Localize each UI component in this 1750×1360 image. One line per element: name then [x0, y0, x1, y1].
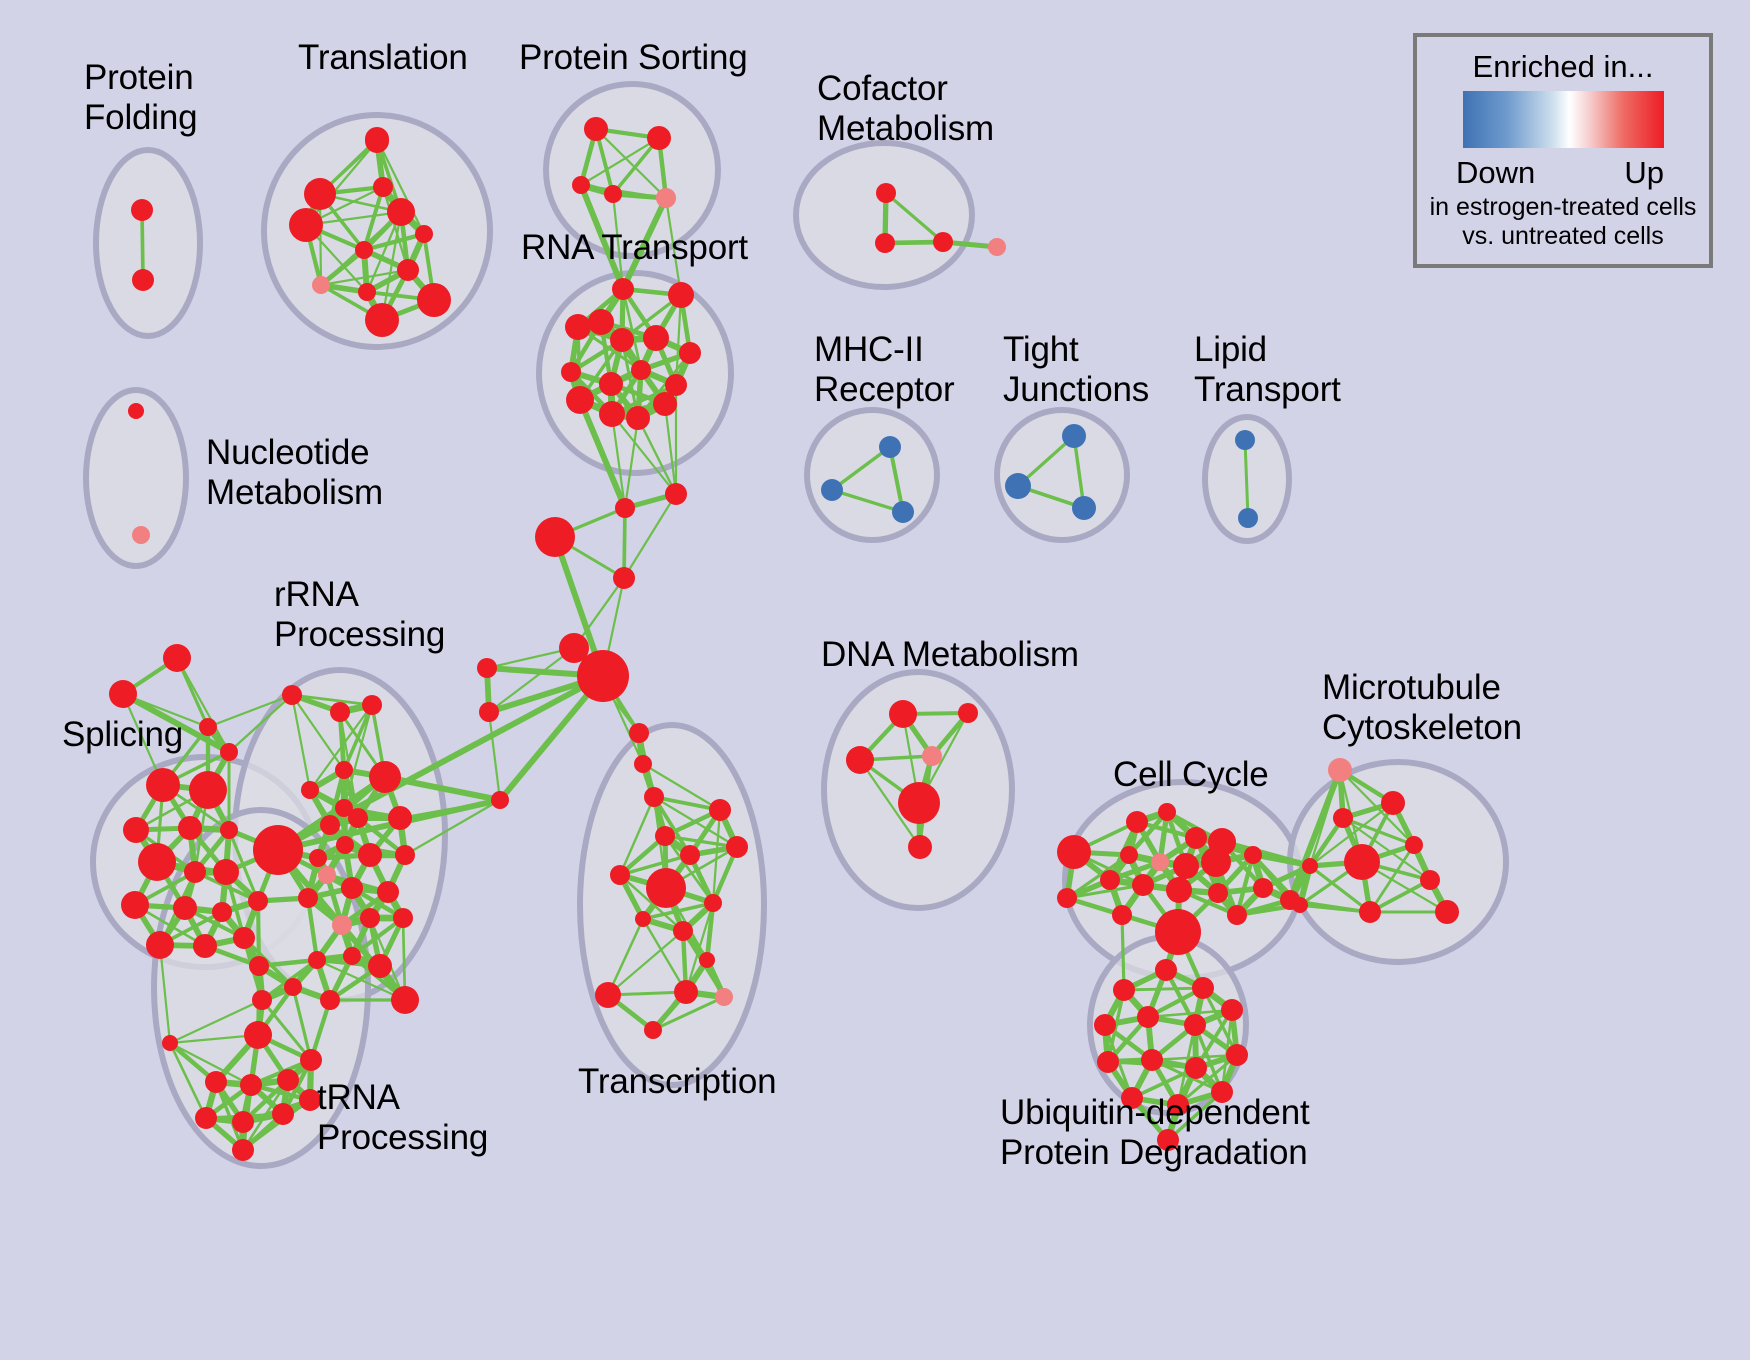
legend-endpoint-labels: Down Up [1456, 155, 1670, 193]
network-node[interactable] [679, 342, 701, 364]
network-node[interactable] [535, 517, 575, 557]
network-node[interactable] [249, 956, 269, 976]
network-node[interactable] [1137, 1006, 1159, 1028]
legend-panel: Enriched in... Down Up in estrogen-treat… [1413, 33, 1713, 268]
network-node[interactable] [368, 954, 392, 978]
network-node[interactable] [244, 1021, 272, 1049]
network-node[interactable] [647, 126, 671, 150]
network-node[interactable] [1302, 858, 1318, 874]
cluster-label-line: Nucleotide [206, 433, 383, 473]
network-node[interactable] [1173, 853, 1199, 879]
network-node[interactable] [479, 702, 499, 722]
network-node[interactable] [846, 746, 874, 774]
cluster-label-cell-cycle: Cell Cycle [1113, 755, 1269, 795]
network-node[interactable] [613, 567, 635, 589]
network-node[interactable] [876, 183, 896, 203]
network-node[interactable] [248, 891, 268, 911]
network-node[interactable] [397, 259, 419, 281]
network-node[interactable] [933, 232, 953, 252]
network-node[interactable] [1253, 878, 1273, 898]
network-node[interactable] [646, 868, 686, 908]
network-node[interactable] [821, 479, 843, 501]
network-node[interactable] [284, 978, 302, 996]
network-node[interactable] [653, 392, 677, 416]
network-node[interactable] [343, 947, 361, 965]
network-node[interactable] [163, 644, 191, 672]
cluster-ellipse-microtubule-cytoskeleton [1290, 762, 1506, 962]
network-node[interactable] [1221, 999, 1243, 1021]
network-node[interactable] [572, 176, 590, 194]
network-node[interactable] [875, 233, 895, 253]
network-node[interactable] [320, 990, 340, 1010]
network-node[interactable] [365, 129, 389, 153]
network-node[interactable] [318, 866, 336, 884]
network-node[interactable] [193, 934, 217, 958]
cluster-label-line: Translation [298, 38, 468, 78]
network-node[interactable] [335, 761, 353, 779]
network-node[interactable] [355, 241, 373, 259]
network-node[interactable] [491, 791, 509, 809]
network-node[interactable] [298, 888, 318, 908]
network-edge [1124, 988, 1203, 990]
network-node[interactable] [1292, 897, 1308, 913]
network-node[interactable] [1100, 870, 1120, 890]
network-node[interactable] [109, 680, 137, 708]
network-node[interactable] [1155, 959, 1177, 981]
network-node[interactable] [253, 825, 303, 875]
network-node[interactable] [1113, 979, 1135, 1001]
network-node[interactable] [922, 746, 942, 766]
cluster-label-trna-processing: tRNAProcessing [317, 1078, 488, 1158]
network-node[interactable] [1057, 888, 1077, 908]
network-node[interactable] [604, 185, 622, 203]
network-node[interactable] [1057, 835, 1091, 869]
network-node[interactable] [309, 849, 327, 867]
legend-title: Enriched in... [1417, 49, 1709, 85]
network-node[interactable] [195, 1107, 217, 1129]
cluster-label-line: Cell Cycle [1113, 755, 1269, 795]
network-node[interactable] [388, 806, 412, 830]
legend-down-label: Down [1456, 155, 1535, 191]
cluster-label-line: Protein [84, 58, 197, 98]
network-node[interactable] [395, 845, 415, 865]
legend-subtitle-line-1: in estrogen-treated cells [1417, 193, 1709, 222]
cluster-label-cofactor-metabolism: CofactorMetabolism [817, 69, 994, 149]
network-node[interactable] [1333, 808, 1353, 828]
network-node[interactable] [336, 836, 354, 854]
network-node[interactable] [128, 403, 144, 419]
network-node[interactable] [565, 314, 591, 340]
cluster-label-line: Protein Degradation [1000, 1133, 1310, 1173]
network-node[interactable] [1097, 1051, 1119, 1073]
network-node[interactable] [1112, 905, 1132, 925]
network-node[interactable] [644, 1021, 662, 1039]
network-node[interactable] [673, 921, 693, 941]
network-node[interactable] [373, 177, 393, 197]
network-node[interactable] [1344, 844, 1380, 880]
network-node[interactable] [1166, 877, 1192, 903]
network-node[interactable] [301, 781, 319, 799]
network-node[interactable] [300, 1049, 322, 1071]
cluster-label-line: Receptor [814, 370, 954, 410]
network-node[interactable] [220, 743, 238, 761]
network-node[interactable] [958, 703, 978, 723]
network-node[interactable] [898, 782, 940, 824]
network-node[interactable] [1208, 883, 1228, 903]
network-node[interactable] [656, 188, 676, 208]
cluster-label-line: Processing [317, 1118, 488, 1158]
network-node[interactable] [332, 915, 352, 935]
network-node[interactable] [1126, 811, 1148, 833]
network-node[interactable] [205, 1071, 227, 1093]
network-node[interactable] [320, 815, 340, 835]
network-node[interactable] [391, 986, 419, 1014]
network-node[interactable] [715, 988, 733, 1006]
cluster-label-line: Lipid [1194, 330, 1341, 370]
cluster-label-line: tRNA [317, 1078, 488, 1118]
network-node[interactable] [417, 283, 451, 317]
network-node[interactable] [146, 768, 180, 802]
cluster-label-microtubule-cytoskeleton: MicrotubuleCytoskeleton [1322, 668, 1522, 748]
legend-up-label: Up [1624, 155, 1664, 191]
cluster-ellipse-protein-folding [96, 150, 200, 336]
network-node[interactable] [699, 952, 715, 968]
cluster-label-line: Processing [274, 615, 445, 655]
network-node[interactable] [584, 117, 608, 141]
legend-colorbar [1463, 91, 1664, 148]
network-node[interactable] [1244, 846, 1262, 864]
network-node[interactable] [566, 386, 594, 414]
network-node[interactable] [889, 700, 917, 728]
network-node[interactable] [1072, 496, 1096, 520]
cluster-label-line: Cofactor [817, 69, 994, 109]
network-node[interactable] [1238, 508, 1258, 528]
cluster-label-line: Transport [1194, 370, 1341, 410]
network-node[interactable] [1227, 905, 1247, 925]
network-node[interactable] [162, 1035, 178, 1051]
network-node[interactable] [330, 702, 350, 722]
cluster-label-line: Microtubule [1322, 668, 1522, 708]
network-node[interactable] [610, 328, 634, 352]
cluster-label-line: Tight [1003, 330, 1149, 370]
network-node[interactable] [629, 723, 649, 743]
enrichment-network-figure: ProteinFoldingTranslationProtein Sorting… [0, 0, 1750, 1360]
network-node[interactable] [1381, 791, 1405, 815]
cluster-label-nucleotide-metabolism: NucleotideMetabolism [206, 433, 383, 513]
network-node[interactable] [612, 278, 634, 300]
network-node[interactable] [674, 980, 698, 1004]
network-edge [489, 712, 500, 800]
cluster-label-mhc-ii-receptor: MHC-IIReceptor [814, 330, 954, 410]
network-edge [1122, 915, 1124, 990]
network-node[interactable] [1151, 853, 1169, 871]
network-node[interactable] [599, 372, 623, 396]
network-node[interactable] [1185, 827, 1207, 849]
network-node[interactable] [704, 894, 722, 912]
network-node[interactable] [726, 836, 748, 858]
network-node[interactable] [199, 718, 217, 736]
cluster-label-splicing: Splicing [62, 715, 183, 755]
network-node[interactable] [668, 282, 694, 308]
network-node[interactable] [362, 695, 382, 715]
network-node[interactable] [377, 881, 399, 903]
network-node[interactable] [184, 861, 206, 883]
network-node[interactable] [131, 199, 153, 221]
network-node[interactable] [1184, 1014, 1206, 1036]
network-node[interactable] [1062, 424, 1086, 448]
cluster-label-lipid-transport: LipidTransport [1194, 330, 1341, 410]
network-node[interactable] [1132, 874, 1154, 896]
network-node[interactable] [252, 990, 272, 1010]
cluster-label-line: Cytoskeleton [1322, 708, 1522, 748]
network-node[interactable] [132, 269, 154, 291]
network-node[interactable] [644, 787, 664, 807]
network-node[interactable] [1158, 803, 1176, 821]
cluster-label-rrna-processing: rRNAProcessing [274, 575, 445, 655]
network-node[interactable] [643, 325, 669, 351]
network-node[interactable] [123, 817, 149, 843]
cluster-label-line: Metabolism [817, 109, 994, 149]
network-node[interactable] [121, 891, 149, 919]
network-node[interactable] [1235, 430, 1255, 450]
network-node[interactable] [634, 755, 652, 773]
network-node[interactable] [365, 303, 399, 337]
cluster-label-line: DNA Metabolism [821, 635, 1079, 675]
cluster-label-line: Transcription [578, 1062, 776, 1102]
network-node[interactable] [908, 835, 932, 859]
network-node[interactable] [308, 951, 326, 969]
network-node[interactable] [988, 238, 1006, 256]
network-node[interactable] [477, 658, 497, 678]
legend-subtitle-line-2: vs. untreated cells [1417, 222, 1709, 251]
network-node[interactable] [132, 526, 150, 544]
network-node[interactable] [369, 761, 401, 793]
network-node[interactable] [1328, 758, 1352, 782]
network-node[interactable] [415, 225, 433, 243]
cluster-label-line: RNA Transport [521, 228, 748, 268]
network-node[interactable] [138, 843, 176, 881]
cluster-label-line: MHC-II [814, 330, 954, 370]
network-node[interactable] [615, 498, 635, 518]
network-node[interactable] [1120, 846, 1138, 864]
network-node[interactable] [358, 843, 382, 867]
cluster-label-protein-sorting: Protein Sorting [519, 38, 748, 78]
network-node[interactable] [387, 198, 415, 226]
network-node[interactable] [1420, 870, 1440, 890]
cluster-label-ubiquitin-protein-degradation: Ubiquitin-dependentProtein Degradation [1000, 1093, 1310, 1173]
network-node[interactable] [189, 771, 227, 809]
cluster-label-line: Metabolism [206, 473, 383, 513]
cluster-label-tight-junctions: TightJunctions [1003, 330, 1149, 410]
network-node[interactable] [212, 902, 232, 922]
cluster-label-line: Folding [84, 98, 197, 138]
network-node[interactable] [348, 808, 368, 828]
network-node[interactable] [232, 1139, 254, 1161]
network-node[interactable] [1201, 847, 1231, 877]
network-node[interactable] [178, 816, 202, 840]
network-node[interactable] [272, 1103, 294, 1125]
network-node[interactable] [626, 406, 650, 430]
network-node[interactable] [282, 685, 302, 705]
network-node[interactable] [213, 859, 239, 885]
cluster-label-translation: Translation [298, 38, 468, 78]
network-node[interactable] [1435, 900, 1459, 924]
network-node[interactable] [879, 436, 901, 458]
network-node[interactable] [277, 1069, 299, 1091]
network-node[interactable] [341, 877, 363, 899]
network-node[interactable] [220, 821, 238, 839]
network-node[interactable] [561, 362, 581, 382]
network-node[interactable] [312, 276, 330, 294]
cluster-label-dna-metabolism: DNA Metabolism [821, 635, 1079, 675]
network-node[interactable] [1185, 1057, 1207, 1079]
network-node[interactable] [304, 178, 336, 210]
network-node[interactable] [680, 845, 700, 865]
network-node[interactable] [358, 283, 376, 301]
network-node[interactable] [631, 360, 651, 380]
network-node[interactable] [655, 826, 675, 846]
cluster-label-line: Splicing [62, 715, 183, 755]
cluster-ellipse-mhc-ii-receptor [807, 410, 937, 540]
cluster-label-line: Protein Sorting [519, 38, 748, 78]
network-node[interactable] [1155, 909, 1201, 955]
cluster-label-transcription: Transcription [578, 1062, 776, 1102]
network-node[interactable] [240, 1074, 262, 1096]
network-node[interactable] [289, 208, 323, 242]
cluster-label-rna-transport: RNA Transport [521, 228, 748, 268]
network-node[interactable] [709, 799, 731, 821]
network-node[interactable] [892, 501, 914, 523]
network-node[interactable] [595, 982, 621, 1008]
network-node[interactable] [173, 896, 197, 920]
network-node[interactable] [599, 401, 625, 427]
cluster-label-line: rRNA [274, 575, 445, 615]
network-node[interactable] [610, 865, 630, 885]
network-node[interactable] [1094, 1014, 1116, 1036]
network-node[interactable] [360, 908, 380, 928]
network-node[interactable] [665, 483, 687, 505]
network-node[interactable] [1359, 901, 1381, 923]
network-node[interactable] [577, 650, 629, 702]
network-node[interactable] [232, 1111, 254, 1133]
cluster-label-protein-folding: ProteinFolding [84, 58, 197, 138]
cluster-label-line: Ubiquitin-dependent [1000, 1093, 1310, 1133]
network-node[interactable] [1192, 977, 1214, 999]
network-node[interactable] [1226, 1044, 1248, 1066]
network-node[interactable] [1005, 473, 1031, 499]
network-node[interactable] [588, 309, 614, 335]
network-node[interactable] [393, 908, 413, 928]
network-node[interactable] [146, 931, 174, 959]
network-node[interactable] [1405, 836, 1423, 854]
cluster-label-line: Junctions [1003, 370, 1149, 410]
network-node[interactable] [635, 911, 651, 927]
network-node[interactable] [1141, 1049, 1163, 1071]
network-node[interactable] [233, 927, 255, 949]
